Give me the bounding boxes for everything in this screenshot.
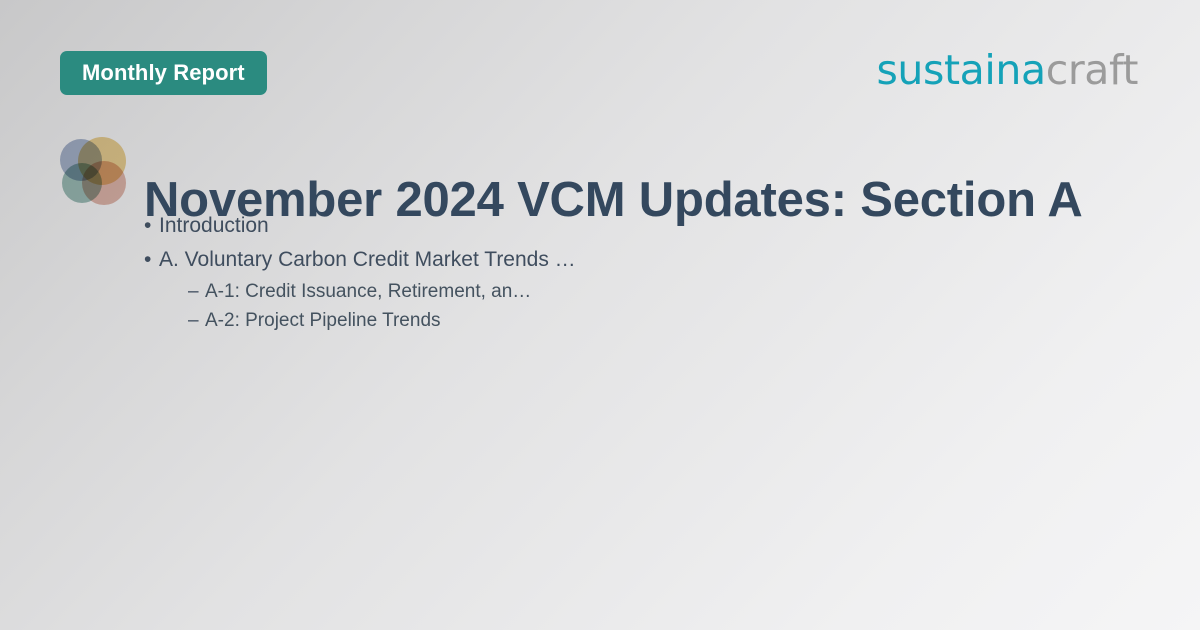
list-item-label: A-2: Project Pipeline Trends [205, 306, 441, 335]
list-item: • A. Voluntary Carbon Credit Market Tren… [144, 243, 1160, 277]
outline-list: • Introduction • A. Voluntary Carbon Cre… [144, 209, 1160, 335]
dash-marker-icon: – [188, 277, 205, 306]
report-cover-slide: Monthly Report sustainacraft November 20… [0, 0, 1200, 630]
list-item-label: A. Voluntary Carbon Credit Market Trends… [159, 243, 576, 277]
list-item-label: A-1: Credit Issuance, Retirement, an… [205, 277, 531, 306]
circle-salmon-icon [82, 161, 126, 205]
report-type-badge: Monthly Report [60, 51, 267, 95]
brand-logo-primary-text: sustaina [876, 46, 1045, 94]
list-item: – A-2: Project Pipeline Trends [144, 306, 1160, 335]
bullet-marker-icon: • [144, 243, 159, 277]
dash-marker-icon: – [188, 306, 205, 335]
header-row: Monthly Report sustainacraft [0, 0, 1200, 120]
overlapping-circles-icon [58, 135, 130, 207]
report-type-badge-label: Monthly Report [82, 60, 245, 86]
bullet-marker-icon: • [144, 209, 159, 243]
list-item-label: Introduction [159, 209, 269, 243]
list-item: • Introduction [144, 209, 1160, 243]
brand-logo: sustainacraft [876, 48, 1138, 92]
list-item: – A-1: Credit Issuance, Retirement, an… [144, 277, 1160, 306]
brand-logo-secondary-text: craft [1046, 46, 1138, 94]
title-row: November 2024 VCM Updates: Section A [0, 131, 1200, 209]
